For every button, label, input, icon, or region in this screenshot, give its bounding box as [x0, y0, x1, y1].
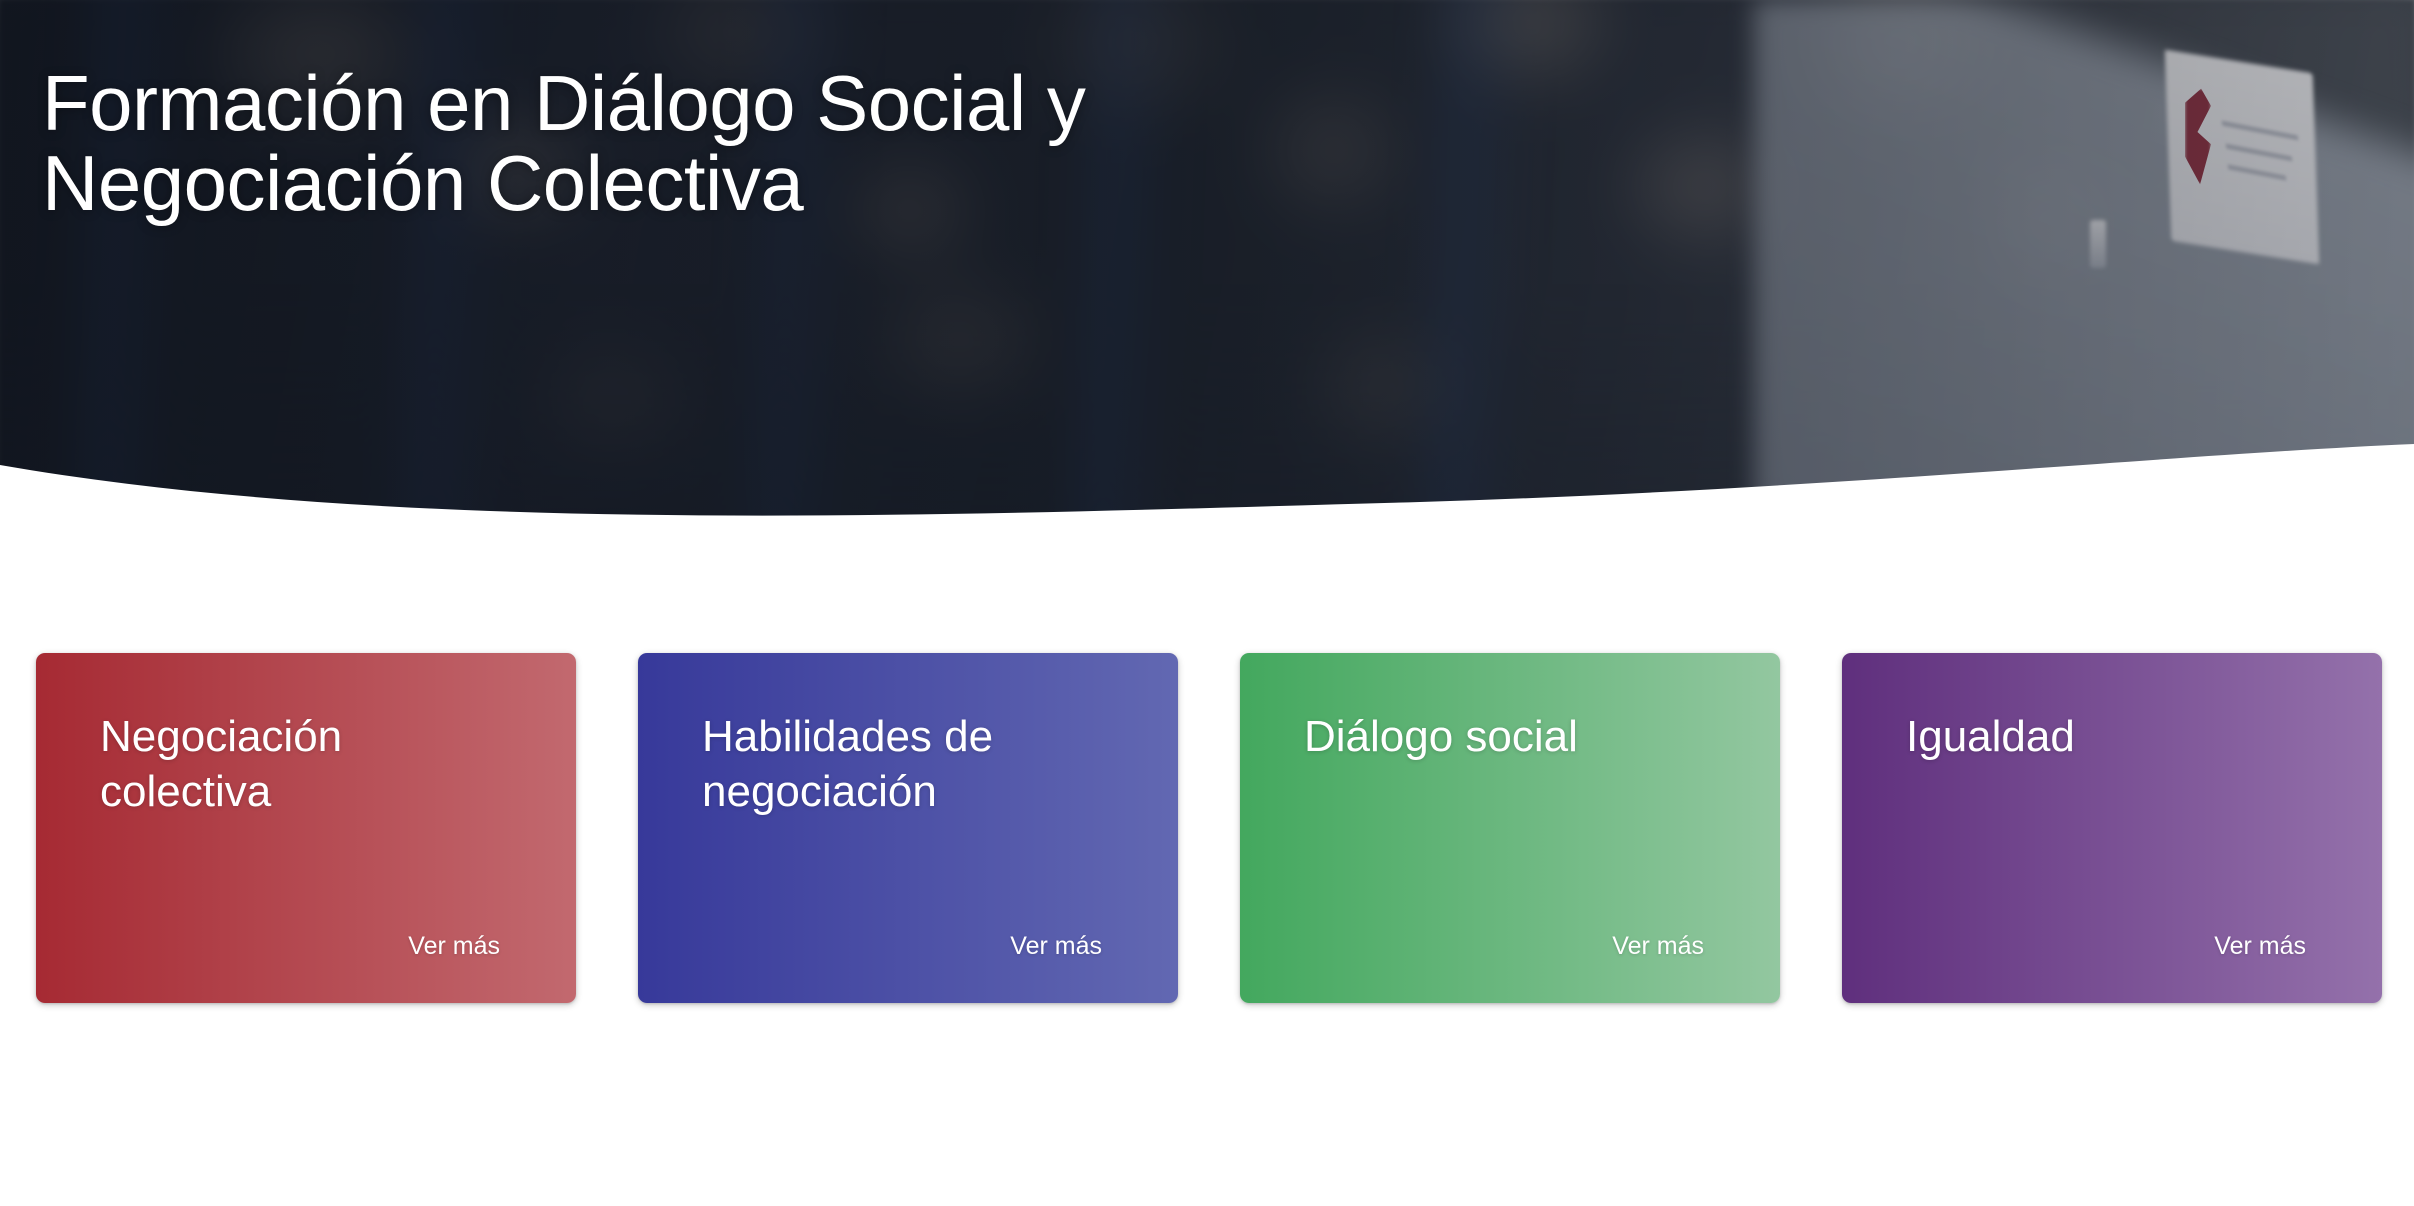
card-more-link[interactable]: Ver más	[1612, 934, 1704, 959]
category-card-dialogo-social[interactable]: Diálogo social Ver más	[1240, 653, 1780, 1003]
card-more-link[interactable]: Ver más	[2214, 934, 2306, 959]
category-card-igualdad[interactable]: Igualdad Ver más	[1842, 653, 2382, 1003]
card-more-link[interactable]: Ver más	[408, 934, 500, 959]
card-more-link[interactable]: Ver más	[1010, 934, 1102, 959]
card-title: Igualdad	[1906, 709, 2326, 764]
hero-bottom-curve	[0, 410, 2414, 540]
card-title: Habilidades de negociación	[702, 709, 1122, 820]
page-title: Formación en Diálogo Social y Negociació…	[42, 64, 1442, 223]
card-title: Negociación colectiva	[100, 709, 520, 820]
hero-banner: Formación en Diálogo Social y Negociació…	[0, 0, 2414, 540]
category-card-negociacion-colectiva[interactable]: Negociación colectiva Ver más	[36, 653, 576, 1003]
page-root: Formación en Diálogo Social y Negociació…	[0, 0, 2414, 1206]
card-title: Diálogo social	[1304, 709, 1724, 764]
category-card-list: Negociación colectiva Ver más Habilidade…	[36, 653, 2374, 1003]
category-card-habilidades-de-negociacion[interactable]: Habilidades de negociación Ver más	[638, 653, 1178, 1003]
